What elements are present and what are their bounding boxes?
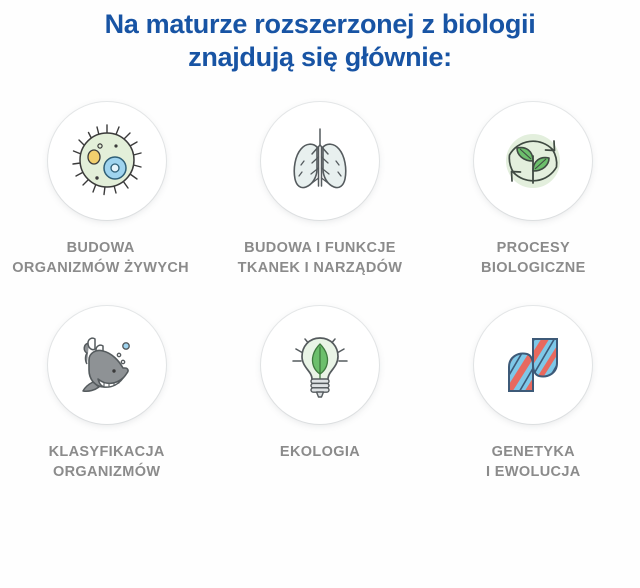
topic-label-line-2: I EWOLUCJA bbox=[486, 462, 581, 482]
topic-label: BUDOWA ORGANIZMÓW ŻYWYCH bbox=[12, 238, 189, 278]
icon-circle bbox=[261, 102, 379, 220]
icon-circle bbox=[48, 102, 166, 220]
dna-icon bbox=[493, 325, 573, 405]
topic-item-klasyfikacja-organizmow: KLASYFIKACJA ORGANIZMÓW bbox=[0, 306, 213, 482]
icon-circle bbox=[48, 306, 166, 424]
page-title-line-1: Na maturze rozszerzonej z biologii bbox=[20, 8, 620, 41]
page-title: Na maturze rozszerzonej z biologii znajd… bbox=[0, 0, 640, 74]
topic-item-procesy-biologiczne: PROCESY BIOLOGICZNE bbox=[427, 102, 640, 278]
topic-item-ekologia: EKOLOGIA bbox=[213, 306, 426, 482]
topics-grid: BUDOWA ORGANIZMÓW ŻYWYCH bbox=[0, 102, 640, 482]
icon-circle bbox=[261, 306, 379, 424]
topic-label-line-1: BUDOWA I FUNKCJE bbox=[238, 238, 403, 258]
topic-label: KLASYFIKACJA ORGANIZMÓW bbox=[49, 442, 165, 482]
topic-item-genetyka-i-ewolucja: GENETYKA I EWOLUCJA bbox=[427, 306, 640, 482]
lightbulb-leaf-icon bbox=[280, 325, 360, 405]
topic-label-line-2: ORGANIZMÓW ŻYWYCH bbox=[12, 258, 189, 278]
topic-label-line-2: ORGANIZMÓW bbox=[49, 462, 165, 482]
plant-cycle-icon bbox=[493, 121, 573, 201]
topic-label: PROCESY BIOLOGICZNE bbox=[481, 238, 586, 278]
whale-icon bbox=[67, 325, 147, 405]
topic-item-budowa-i-funkcje-tkanek-i-narzadow: BUDOWA I FUNKCJE TKANEK I NARZĄDÓW bbox=[213, 102, 426, 278]
page-title-line-2: znajdują się głównie: bbox=[20, 41, 620, 74]
icon-circle bbox=[474, 306, 592, 424]
topic-label-line-1: EKOLOGIA bbox=[280, 442, 360, 462]
topic-label-line-1: GENETYKA bbox=[486, 442, 581, 462]
topic-item-budowa-organizmow-zywych: BUDOWA ORGANIZMÓW ŻYWYCH bbox=[0, 102, 213, 278]
topic-label: BUDOWA I FUNKCJE TKANEK I NARZĄDÓW bbox=[238, 238, 403, 278]
icon-circle bbox=[474, 102, 592, 220]
topic-label-line-1: BUDOWA bbox=[12, 238, 189, 258]
topic-label: GENETYKA I EWOLUCJA bbox=[486, 442, 581, 482]
topic-label-line-1: KLASYFIKACJA bbox=[49, 442, 165, 462]
infographic-page: Na maturze rozszerzonej z biologii znajd… bbox=[0, 0, 640, 588]
topic-label: EKOLOGIA bbox=[280, 442, 360, 462]
topic-label-line-1: PROCESY bbox=[481, 238, 586, 258]
cell-organism-icon bbox=[67, 121, 147, 201]
lungs-icon bbox=[280, 121, 360, 201]
topic-label-line-2: BIOLOGICZNE bbox=[481, 258, 586, 278]
topic-label-line-2: TKANEK I NARZĄDÓW bbox=[238, 258, 403, 278]
